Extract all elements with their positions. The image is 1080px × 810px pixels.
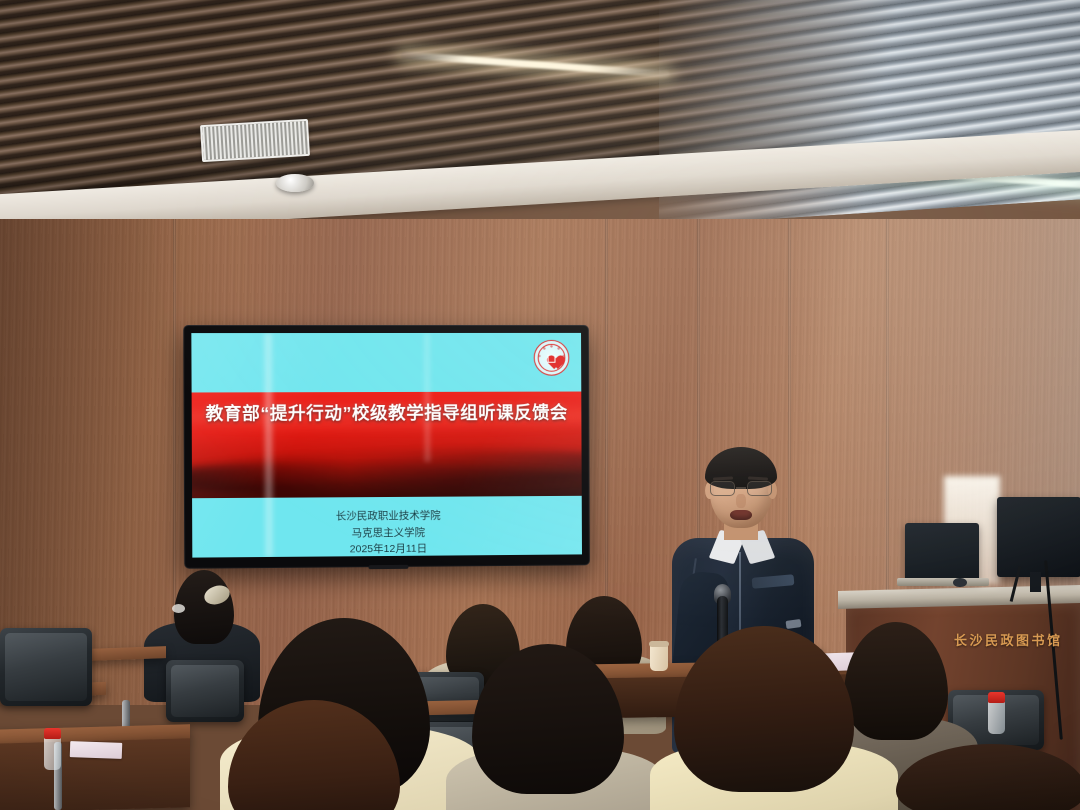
papers-on-desk bbox=[70, 741, 123, 759]
college-emblem-icon bbox=[534, 340, 570, 376]
laptop-screen[interactable] bbox=[905, 523, 979, 581]
monitor-stand bbox=[1030, 572, 1041, 592]
water-bottle bbox=[44, 736, 61, 770]
slide-title: 教育部“提升行动”校级教学指导组听课反馈会 bbox=[192, 399, 582, 425]
attendee-hair bbox=[896, 744, 1080, 810]
water-bottle-cap bbox=[988, 692, 1005, 703]
mesh-office-chair bbox=[0, 628, 92, 706]
attendee-hair bbox=[472, 644, 624, 794]
tv-bottom-marker bbox=[369, 565, 409, 569]
list-item bbox=[228, 700, 414, 810]
attendee-hair bbox=[228, 700, 400, 810]
speaker-nose bbox=[736, 494, 746, 508]
slide-date: 2025年12月11日 bbox=[192, 540, 582, 558]
list-item bbox=[896, 744, 1080, 810]
speaker-mouth bbox=[730, 510, 752, 520]
air-vent-grille bbox=[200, 118, 310, 162]
emblem-inner-mark bbox=[548, 354, 556, 362]
desktop-monitor[interactable] bbox=[997, 497, 1080, 577]
eyeglass-lens bbox=[747, 481, 772, 496]
podium-engraved-label: 长沙民政图书馆 bbox=[954, 630, 1063, 649]
eyeglass-lens bbox=[710, 481, 735, 496]
laptop-base bbox=[897, 578, 989, 586]
list-item bbox=[460, 644, 640, 810]
list-item bbox=[640, 626, 870, 810]
chair-mesh-back bbox=[5, 633, 87, 701]
slide-footer: 长沙民政职业技术学院 马克思主义学院 2025年12月11日 bbox=[192, 507, 582, 558]
presentation-slide: 教育部“提升行动”校级教学指导组听课反馈会 长沙民政职业技术学院 马克思主义学院… bbox=[191, 333, 582, 558]
meeting-room-photo: 教育部“提升行动”校级教学指导组听课反馈会 长沙民政职业技术学院 马克思主义学院… bbox=[0, 0, 1080, 810]
wall-mounted-tv[interactable]: 教育部“提升行动”校级教学指导组听课反馈会 长沙民政职业技术学院 马克思主义学院… bbox=[184, 326, 589, 568]
attendee-hair bbox=[674, 626, 854, 792]
eyeglass-bridge bbox=[736, 487, 746, 489]
face-mask-edge bbox=[172, 604, 185, 613]
water-bottle-cap bbox=[44, 728, 61, 739]
computer-mouse[interactable] bbox=[953, 578, 967, 587]
water-bottle bbox=[988, 700, 1005, 734]
